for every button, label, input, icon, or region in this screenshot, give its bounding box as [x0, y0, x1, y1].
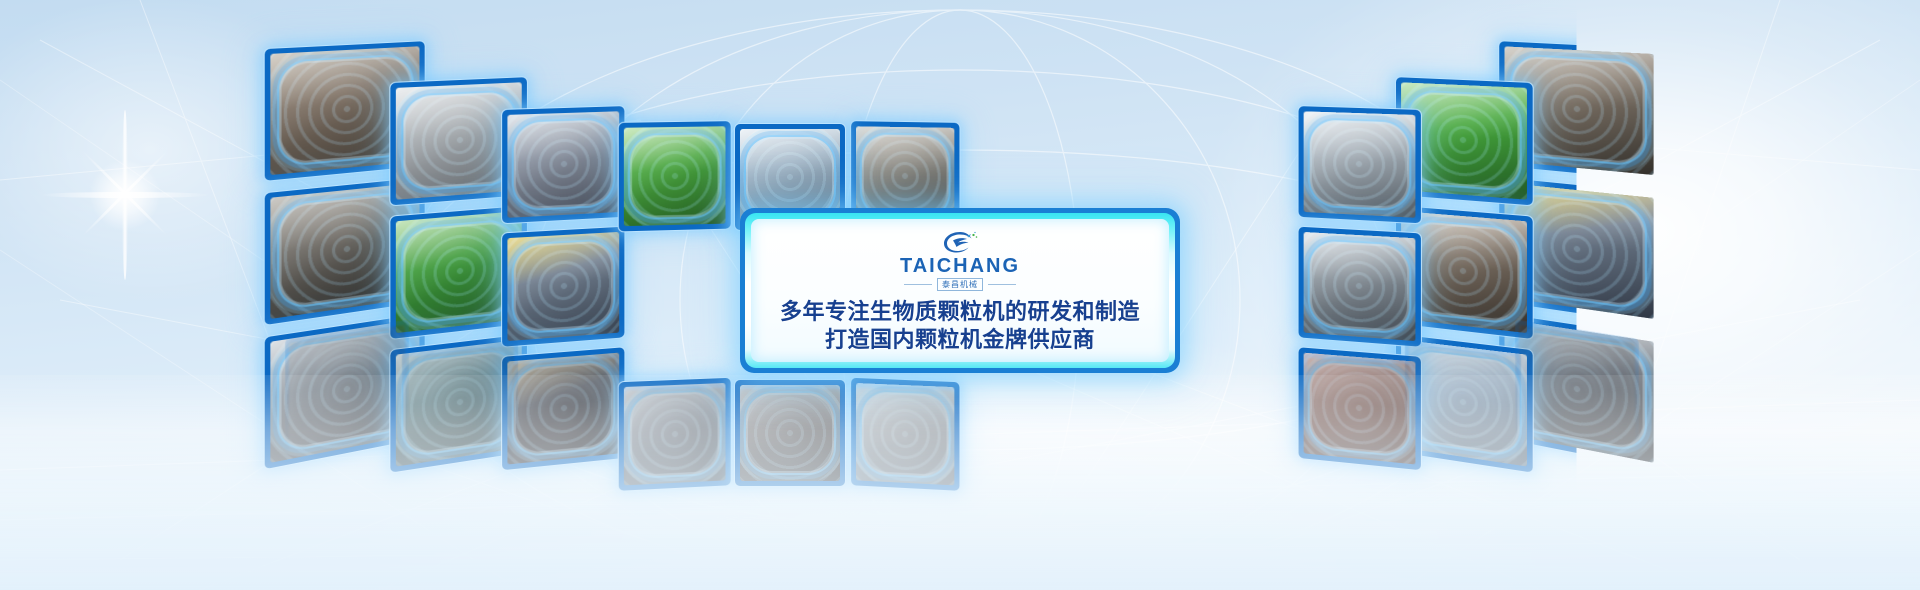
reflection-photo — [289, 325, 405, 461]
reflection-screen — [1519, 325, 1635, 461]
tile-reflection — [1303, 352, 1416, 471]
reflection-screen — [625, 388, 724, 489]
tile-reflection — [851, 382, 960, 493]
brand-rule-left — [904, 284, 932, 285]
slogan-line-1: 多年专注生物质颗粒机的研发和制造 — [780, 298, 1140, 326]
reflection-photo — [512, 358, 615, 467]
tile-reflection — [285, 319, 409, 467]
reflection-screen — [406, 345, 514, 467]
taichang-swoosh-logo-icon — [938, 229, 982, 255]
center-message-panel: TAICHANG 泰昌机械 多年专注生物质颗粒机的研发和制造 打造国内颗粒机金牌… — [740, 208, 1180, 373]
reflection-photo — [625, 388, 724, 489]
panel-neon-glow: TAICHANG 泰昌机械 多年专注生物质颗粒机的研发和制造 打造国内颗粒机金牌… — [745, 213, 1175, 368]
tile-reflection — [621, 382, 730, 493]
reflection-photo — [1519, 325, 1635, 461]
reflection-screen — [1307, 358, 1410, 467]
reflection-photo — [855, 388, 954, 489]
brand-chinese-name: 泰昌机械 — [937, 278, 983, 291]
reflection-screen — [1409, 345, 1517, 467]
slogan: 多年专注生物质颗粒机的研发和制造 打造国内颗粒机金牌供应商 — [780, 298, 1140, 353]
reflection-screen — [855, 388, 954, 489]
brand-subline: 泰昌机械 — [904, 278, 1016, 291]
reflection-screen — [740, 389, 840, 485]
reflection-photo — [1409, 345, 1517, 467]
brand-logo: TAICHANG 泰昌机械 — [900, 229, 1020, 291]
brand-wordmark: TAICHANG — [900, 256, 1020, 276]
reflection-photo — [406, 345, 514, 467]
reflection-screen — [512, 358, 615, 467]
reflection-photo — [740, 389, 840, 485]
banner-stage: TAICHANG 泰昌机械 多年专注生物质颗粒机的研发和制造 打造国内颗粒机金牌… — [0, 0, 1920, 590]
slogan-line-2: 打造国内颗粒机金牌供应商 — [780, 326, 1140, 354]
tile-reflection — [508, 352, 621, 471]
tile-reflection — [735, 384, 845, 490]
tile-reflection — [1405, 340, 1522, 473]
panel-inner: TAICHANG 泰昌机械 多年专注生物质颗粒机的研发和制造 打造国内颗粒机金牌… — [751, 219, 1169, 362]
brand-rule-right — [988, 284, 1016, 285]
reflection-photo — [1307, 358, 1410, 467]
tile-reflection — [402, 340, 519, 473]
reflection-screen — [289, 325, 405, 461]
tile-reflection — [1515, 319, 1639, 467]
